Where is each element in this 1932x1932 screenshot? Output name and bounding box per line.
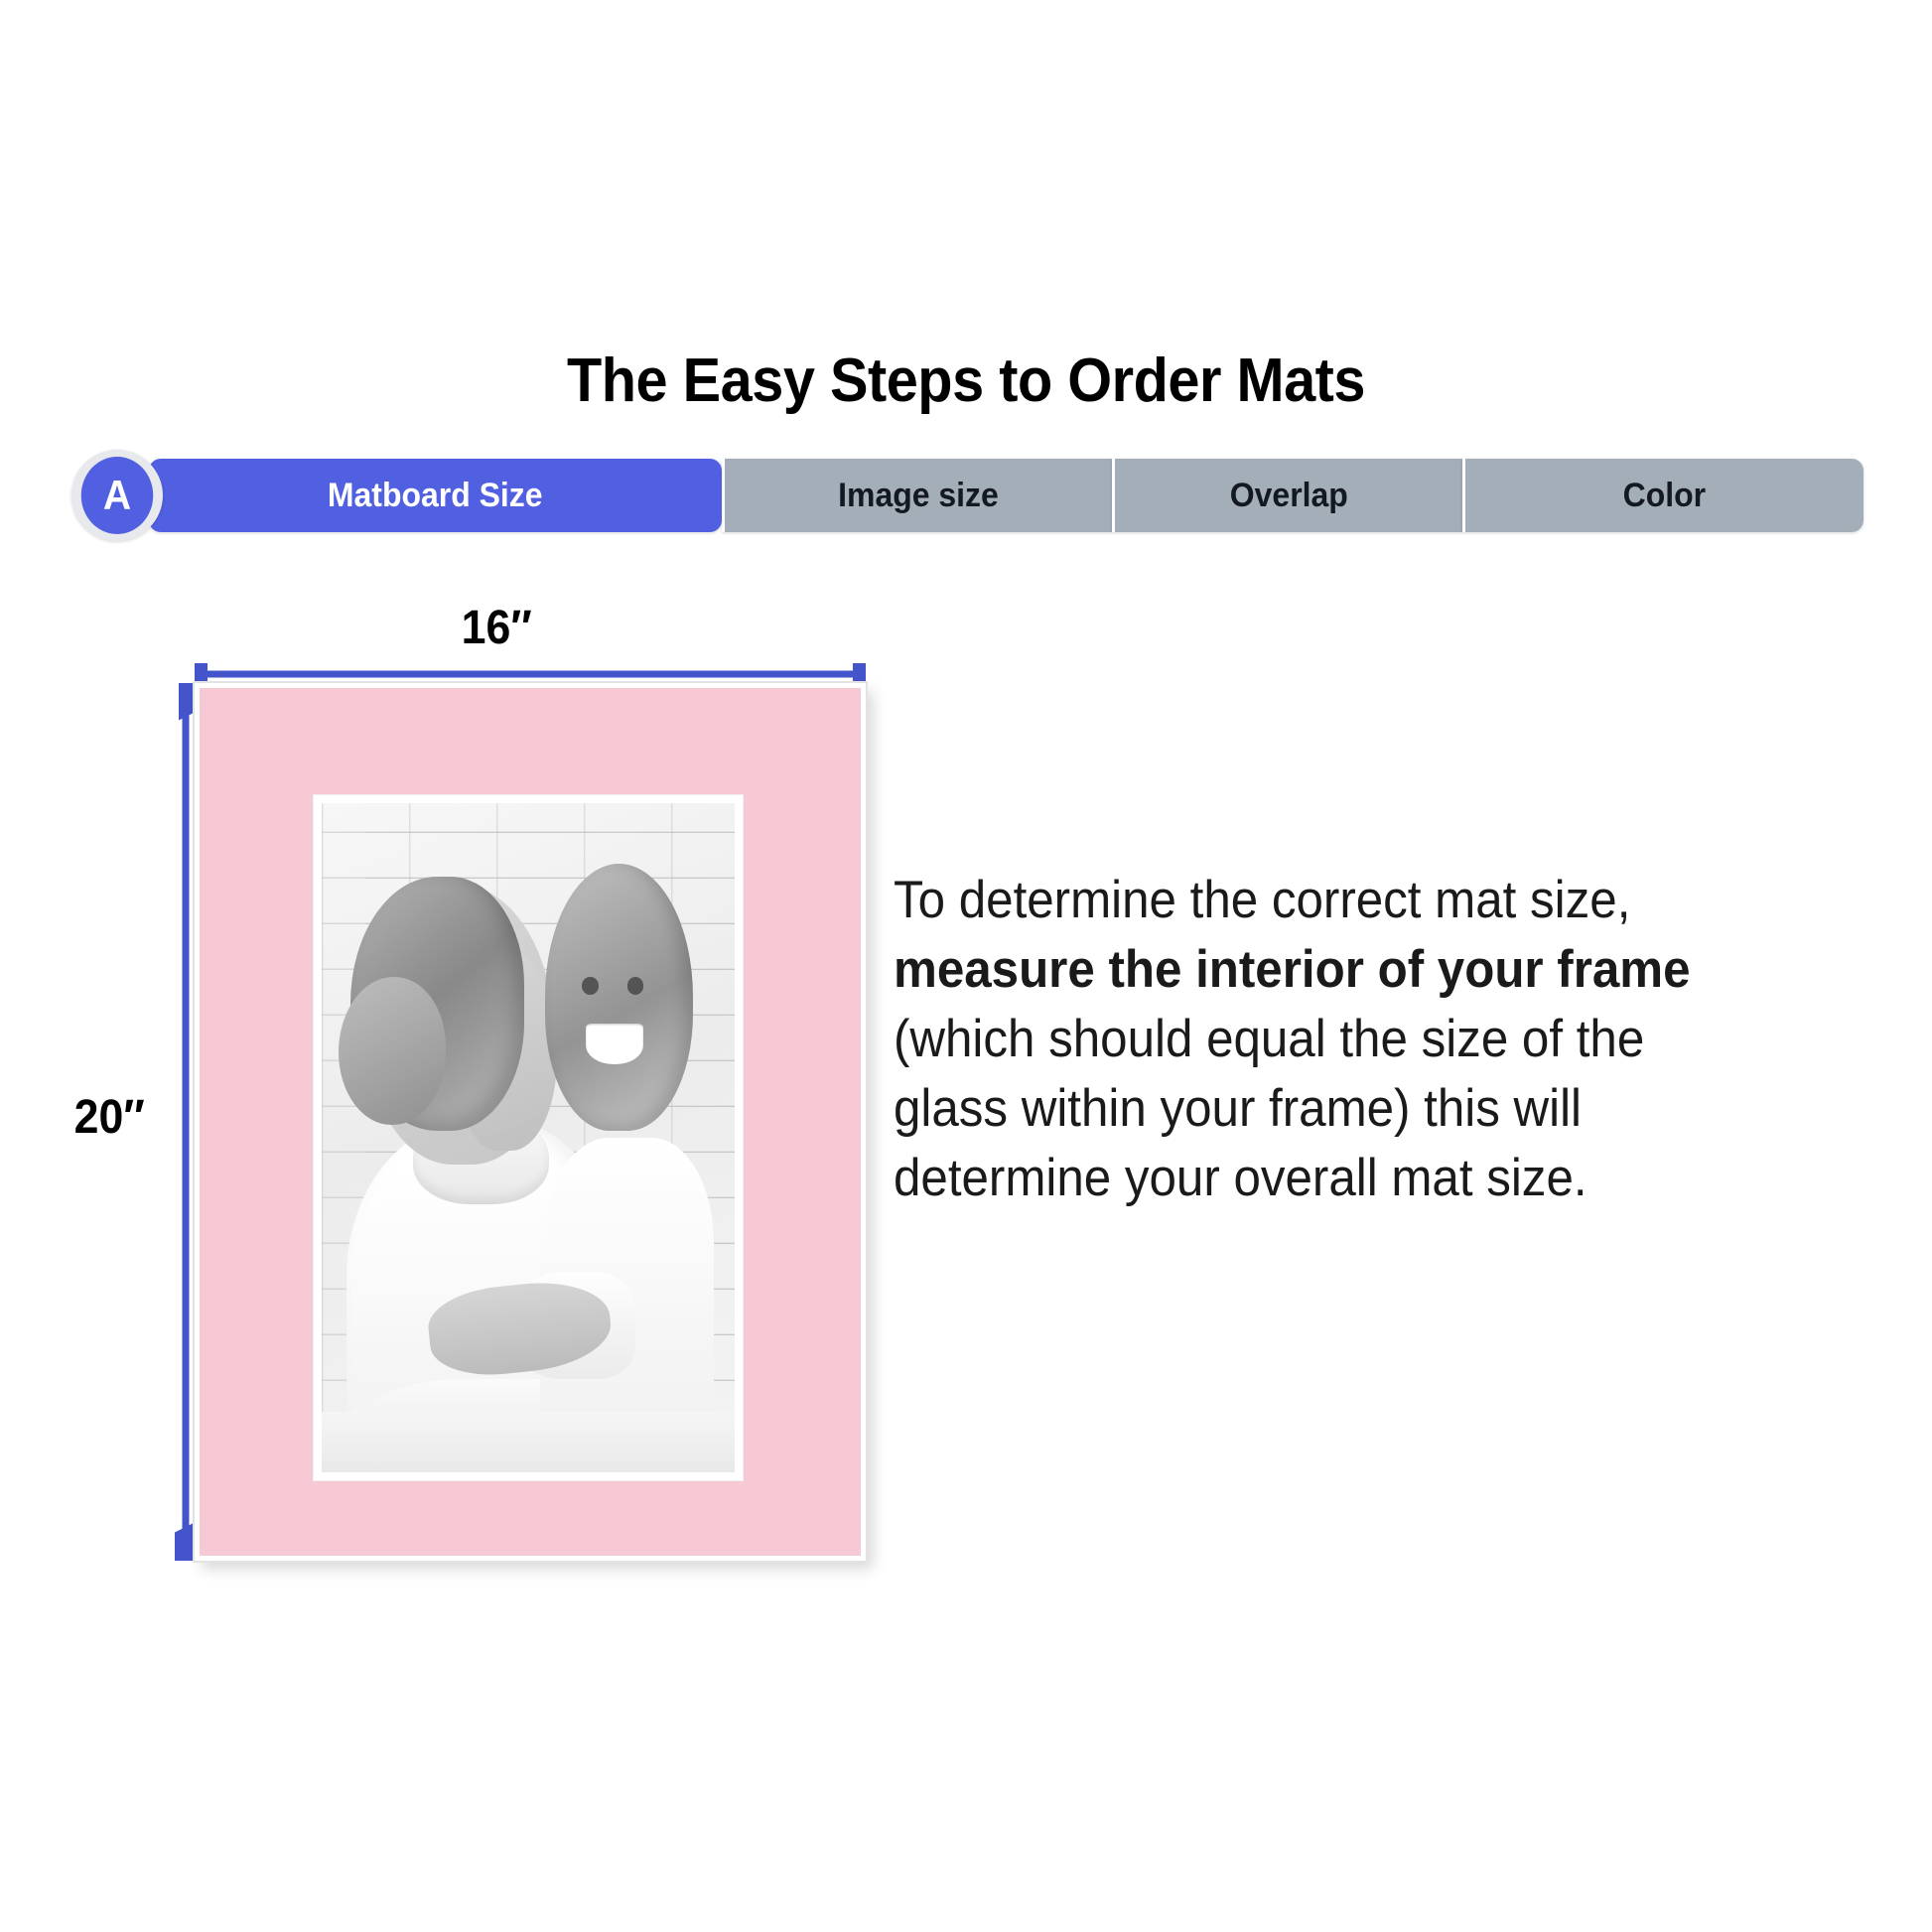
step-badge-letter: A — [81, 457, 154, 534]
page-title: The Easy Steps to Order Mats — [68, 345, 1864, 417]
description-emphasis: measure the interior of your frame — [894, 940, 1691, 999]
photo-window-bevel — [313, 794, 744, 1481]
tab-image-size[interactable]: Image size — [722, 459, 1112, 532]
description-text: To determine the correct mat size, measu… — [894, 866, 1761, 1213]
step-tabs-row: Matboard Size Image size Overlap Color — [149, 459, 1863, 532]
description-part-2: (which should equal the size of the glas… — [894, 1010, 1644, 1207]
matboard-illustration — [195, 683, 866, 1561]
tab-overlap[interactable]: Overlap — [1112, 459, 1462, 532]
step-badge-ring: A — [71, 450, 163, 541]
matboard-surface — [195, 683, 866, 1561]
photo-child-smile — [586, 1024, 643, 1063]
photo-child-eye-right — [627, 977, 644, 995]
matboard-width-label: 16″ — [462, 601, 532, 655]
photo-image — [322, 803, 735, 1472]
description-part-1: To determine the correct mat size, — [894, 871, 1630, 929]
tab-matboard-size[interactable]: Matboard Size — [149, 459, 722, 532]
width-dimension-arrow — [195, 663, 866, 685]
height-dimension-arrow — [175, 683, 197, 1561]
tab-color-label: Color — [1623, 477, 1706, 515]
photo-floor — [322, 1412, 735, 1472]
photo-child-eye-left — [582, 977, 599, 995]
photo-mother-bun — [339, 977, 446, 1124]
tab-overlap-label: Overlap — [1229, 477, 1347, 515]
tab-matboard-size-label: Matboard Size — [328, 477, 543, 515]
tab-color[interactable]: Color — [1462, 459, 1863, 532]
photo-child-hair — [545, 864, 694, 1132]
tab-image-size-label: Image size — [838, 477, 999, 515]
matboard-height-label: 20″ — [74, 1090, 145, 1145]
step-tab-bar: A Matboard Size Image size Overlap Color — [71, 450, 1863, 541]
